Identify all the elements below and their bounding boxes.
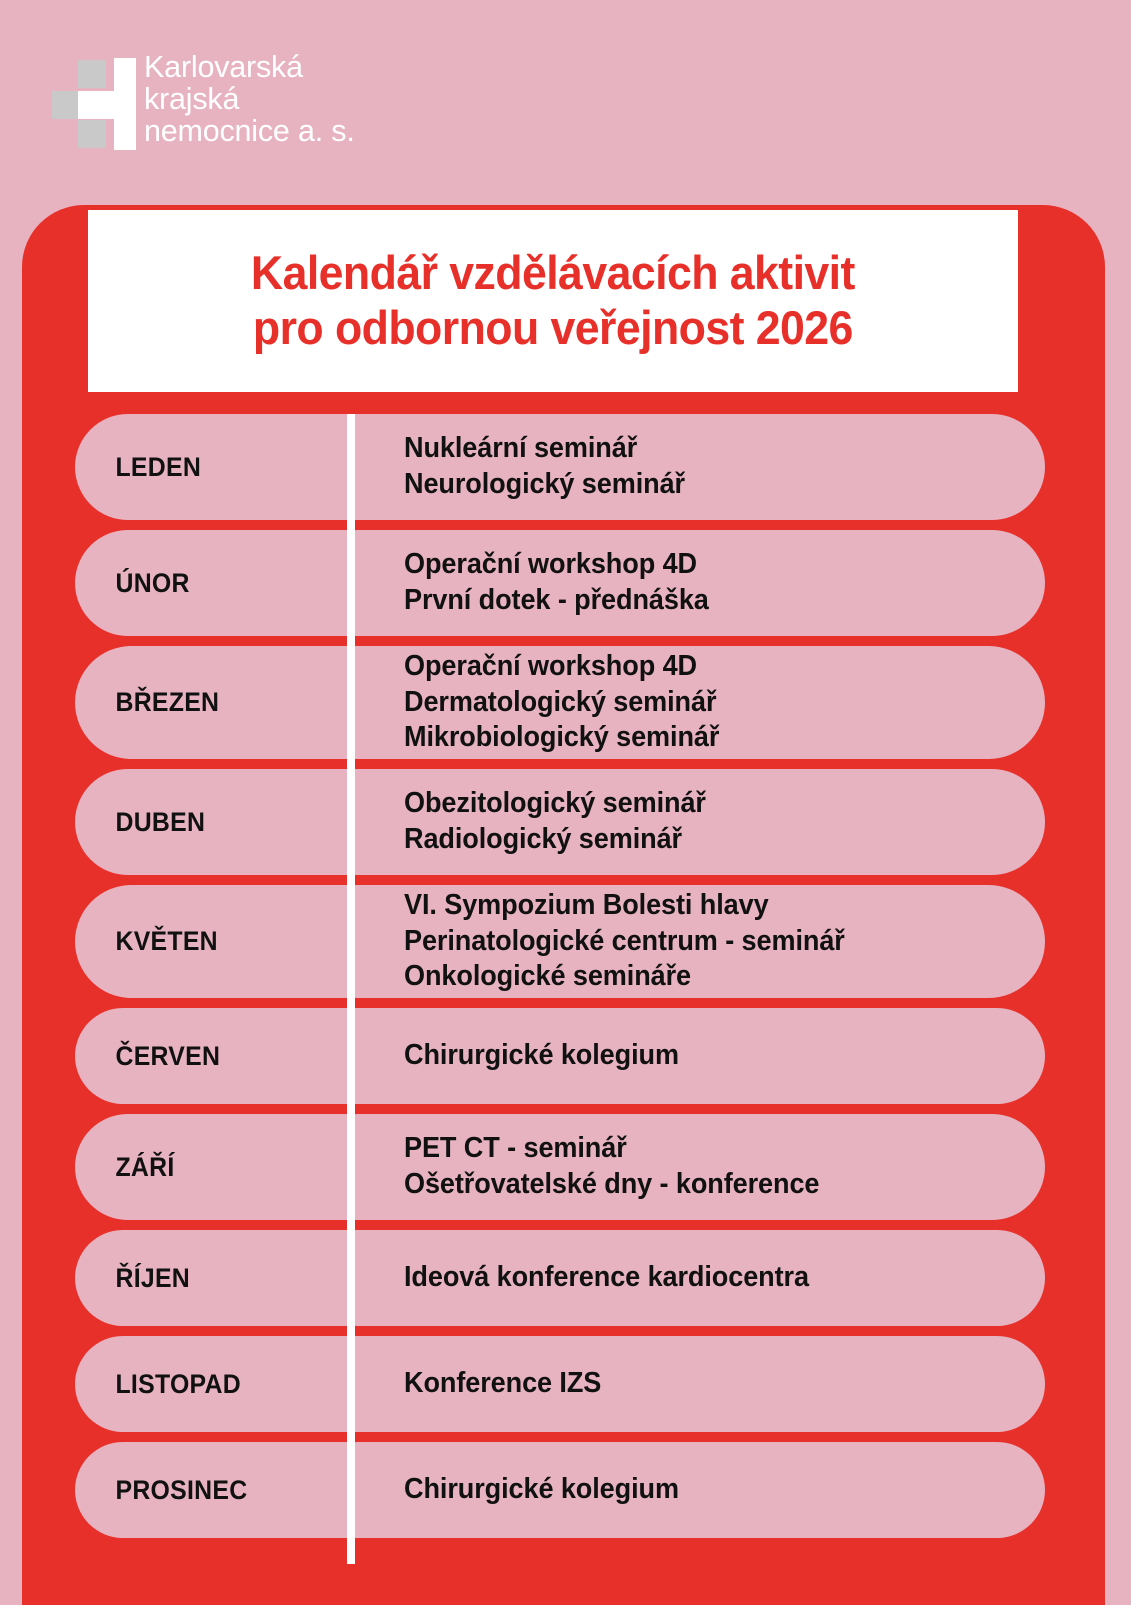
event-item: Operační workshop 4D (404, 649, 1013, 685)
calendar-row: LEDENNukleární seminářNeurologický semin… (75, 414, 1045, 520)
event-item: První dotek - přednáška (404, 583, 1013, 619)
event-item: Obezitologický seminář (404, 786, 1013, 822)
title-card: Kalendář vzdělávacích aktivit pro odborn… (88, 210, 1018, 392)
calendar-row: KVĚTENVI. Sympozium Bolesti hlavyPerinat… (75, 885, 1045, 998)
event-item: Neurologický seminář (404, 467, 1013, 503)
month-label: ZÁŘÍ (75, 1152, 330, 1183)
calendar-row: PROSINECChirurgické kolegium (75, 1442, 1045, 1538)
month-label: KVĚTEN (75, 926, 330, 957)
calendar-row: BŘEZENOperační workshop 4DDermatologický… (75, 646, 1045, 759)
event-item: Ideová konference kardiocentra (404, 1260, 1013, 1296)
event-list: Operační workshop 4DPrvní dotek - předná… (352, 547, 1045, 619)
event-item: Perinatologické centrum - seminář (404, 924, 1013, 960)
hospital-logo: Karlovarská krajská nemocnice a. s. (52, 55, 472, 155)
month-label: ÚNOR (75, 568, 330, 599)
event-item: Chirurgické kolegium (404, 1472, 1013, 1508)
page-title: Kalendář vzdělávacích aktivit pro odborn… (251, 246, 855, 356)
cross-logo-icon (52, 58, 148, 150)
event-item: Onkologické semináře (404, 959, 1013, 995)
event-list: Chirurgické kolegium (352, 1472, 1045, 1508)
calendar-row: ŘÍJENIdeová konference kardiocentra (75, 1230, 1045, 1326)
logo-wordmark: Karlovarská krajská nemocnice a. s. (144, 51, 355, 147)
calendar-row: ZÁŘÍPET CT - seminářOšetřovatelské dny -… (75, 1114, 1045, 1220)
event-list: Konference IZS (352, 1366, 1045, 1402)
event-list: Chirurgické kolegium (352, 1038, 1045, 1074)
event-item: Konference IZS (404, 1366, 1013, 1402)
event-item: Chirurgické kolegium (404, 1038, 1013, 1074)
event-list: Operační workshop 4DDermatologický semin… (352, 649, 1045, 757)
event-item: Radiologický seminář (404, 822, 1013, 858)
event-list: Nukleární seminářNeurologický seminář (352, 431, 1045, 503)
month-label: LEDEN (75, 452, 330, 483)
calendar-row: ÚNOROperační workshop 4DPrvní dotek - př… (75, 530, 1045, 636)
calendar-rows: LEDENNukleární seminářNeurologický semin… (75, 414, 1045, 1548)
calendar-row: DUBENObezitologický seminářRadiologický … (75, 769, 1045, 875)
calendar-row: LISTOPADKonference IZS (75, 1336, 1045, 1432)
event-list: PET CT - seminářOšetřovatelské dny - kon… (352, 1131, 1045, 1203)
month-label: LISTOPAD (75, 1369, 330, 1400)
event-list: VI. Sympozium Bolesti hlavyPerinatologic… (352, 888, 1045, 996)
event-list: Ideová konference kardiocentra (352, 1260, 1045, 1296)
month-label: ŘÍJEN (75, 1263, 330, 1294)
event-item: Ošetřovatelské dny - konference (404, 1167, 1013, 1203)
event-item: Operační workshop 4D (404, 547, 1013, 583)
calendar-row: ČERVENChirurgické kolegium (75, 1008, 1045, 1104)
event-item: Mikrobiologický seminář (404, 720, 1013, 756)
month-label: BŘEZEN (75, 687, 330, 718)
month-label: PROSINEC (75, 1475, 330, 1506)
event-item: VI. Sympozium Bolesti hlavy (404, 888, 1013, 924)
event-item: Nukleární seminář (404, 431, 1013, 467)
month-label: ČERVEN (75, 1041, 330, 1072)
column-divider (347, 414, 355, 1564)
event-item: PET CT - seminář (404, 1131, 1013, 1167)
month-label: DUBEN (75, 807, 330, 838)
event-item: Dermatologický seminář (404, 685, 1013, 721)
event-list: Obezitologický seminářRadiologický semin… (352, 786, 1045, 858)
